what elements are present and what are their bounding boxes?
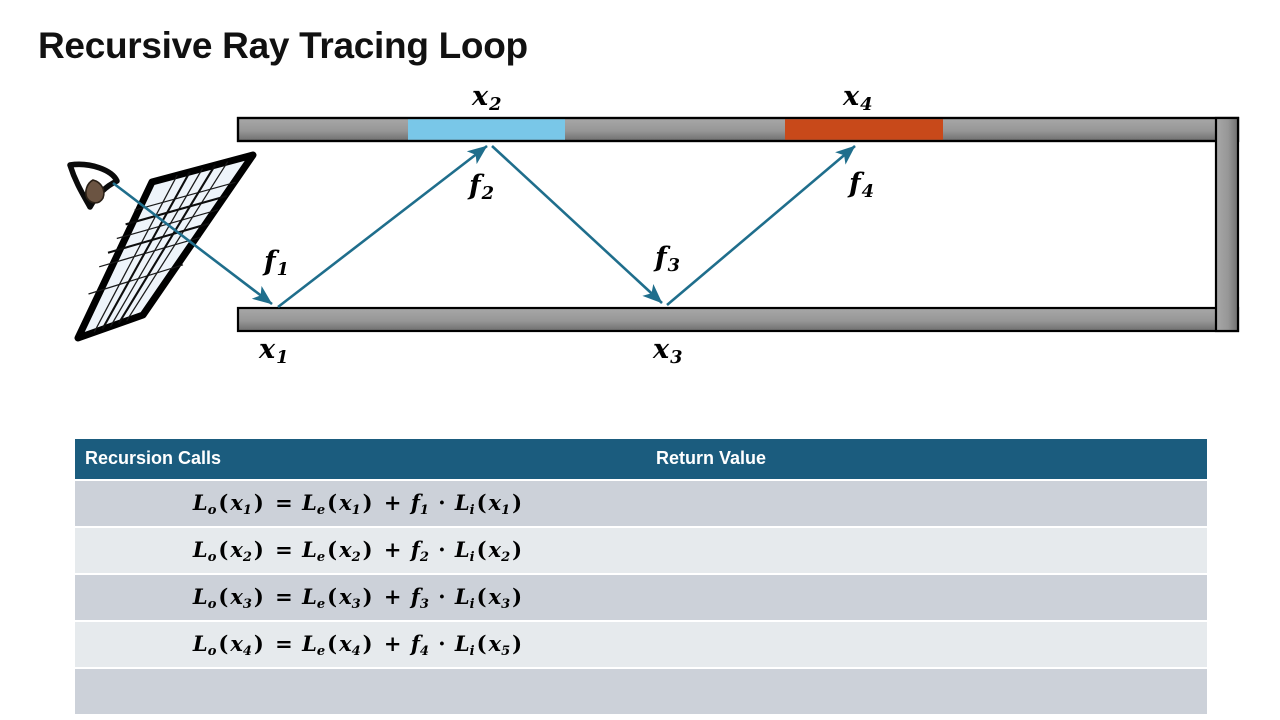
column-header-return-value: Return Value [642, 439, 1207, 479]
cell-recursion-call: Lo(x3) = Le(x3) + f3 · Li(x3) [75, 575, 642, 620]
cell-return-value [642, 669, 1207, 714]
label-x2: x2 [472, 83, 502, 114]
recursion-calls-table: Recursion Calls Return Value Lo(x1) = Le… [75, 437, 1207, 716]
ceiling-wall-bar [238, 118, 1238, 141]
table-row[interactable]: Lo(x2) = Le(x2) + f2 · Li(x2) [75, 528, 1207, 573]
cell-recursion-call [75, 669, 642, 714]
table-row[interactable] [75, 669, 1207, 714]
diagram-svg [0, 0, 1280, 420]
ceiling-patch-orange [785, 119, 943, 140]
label-x1: x1 [259, 336, 289, 367]
label-f1: f1 [264, 248, 289, 279]
formula-row-1: Lo(x1) = Le(x1) + f1 · Li(x1) [193, 490, 524, 515]
label-f4: f4 [849, 170, 874, 201]
formula-row-4: Lo(x4) = Le(x4) + f4 · Li(x5) [193, 631, 524, 656]
cell-return-value [642, 622, 1207, 667]
cell-return-value [642, 528, 1207, 573]
eye-icon [70, 164, 117, 207]
ceiling-patch-blue [408, 119, 565, 140]
right-wall-bar [1216, 118, 1238, 331]
cell-recursion-call: Lo(x2) = Le(x2) + f2 · Li(x2) [75, 528, 642, 573]
floor-wall [238, 308, 1238, 331]
label-f2: f2 [469, 172, 494, 203]
table-row[interactable]: Lo(x3) = Le(x3) + f3 · Li(x3) [75, 575, 1207, 620]
label-x4: x4 [843, 83, 873, 114]
right-wall [1216, 118, 1238, 331]
cell-recursion-call: Lo(x4) = Le(x4) + f4 · Li(x5) [75, 622, 642, 667]
floor-wall-bar [238, 308, 1238, 331]
formula-row-3: Lo(x3) = Le(x3) + f3 · Li(x3) [193, 584, 524, 609]
cell-recursion-call: Lo(x1) = Le(x1) + f1 · Li(x1) [75, 481, 642, 526]
ceiling-wall [238, 118, 1238, 141]
table-row[interactable]: Lo(x1) = Le(x1) + f1 · Li(x1) [75, 481, 1207, 526]
label-f3: f3 [655, 244, 680, 275]
ray-x1-to-x2 [278, 146, 487, 307]
cell-return-value [642, 575, 1207, 620]
ray-x2-to-x3 [492, 146, 662, 303]
column-header-recursion-calls: Recursion Calls [75, 439, 642, 479]
table-row[interactable]: Lo(x4) = Le(x4) + f4 · Li(x5) [75, 622, 1207, 667]
formula-row-2: Lo(x2) = Le(x2) + f2 · Li(x2) [193, 537, 524, 562]
table-header-row: Recursion Calls Return Value [75, 439, 1207, 479]
recursive-ray-tracing-diagram: x2 x4 f2 f4 f1 f3 x1 x3 [0, 0, 1280, 420]
ray-x3-to-x4 [667, 146, 855, 305]
label-x3: x3 [653, 336, 683, 367]
cell-return-value [642, 481, 1207, 526]
